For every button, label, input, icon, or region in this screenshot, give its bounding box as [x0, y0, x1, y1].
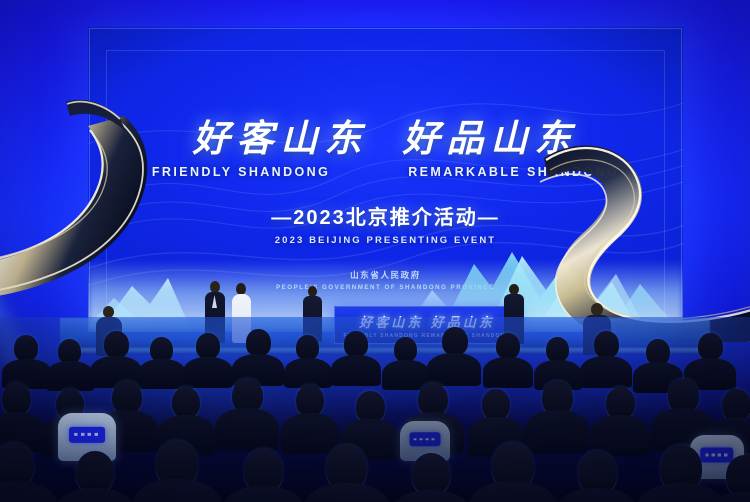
audience-head: [442, 327, 468, 356]
audience-shoulders: [138, 359, 186, 389]
chair-placard: [69, 427, 105, 443]
audience-head: [246, 329, 271, 357]
audience-head: [344, 331, 368, 358]
audience-shoulders: [284, 358, 332, 388]
audience-shoulders: [580, 356, 632, 388]
audience-shoulders: [427, 353, 481, 386]
audience-shoulders: [46, 361, 94, 391]
chair-placard: [700, 448, 733, 463]
audience-shoulders: [215, 408, 279, 451]
audience-shoulders: [281, 413, 339, 454]
audience-shoulders: [483, 357, 533, 388]
audience-shoulders: [331, 355, 381, 386]
audience-shoulders: [590, 415, 650, 456]
audience-head: [196, 333, 220, 360]
stage-event-photo: 好客山东 好品山东 FRIENDLY SHANDONG REMARKABLE S…: [0, 0, 750, 502]
audience-shoulders: [183, 357, 233, 388]
audience-shoulders: [525, 410, 589, 453]
audience-head: [14, 335, 38, 362]
audience-head: [104, 331, 129, 359]
audience-head: [594, 331, 619, 359]
audience-head: [496, 333, 520, 360]
chair-placard: [410, 433, 441, 447]
led-backdrop-screen: 好客山东 好品山东 FRIENDLY SHANDONG REMARKABLE S…: [88, 27, 683, 332]
audience-head: [698, 333, 723, 361]
audience-area: [0, 317, 750, 502]
